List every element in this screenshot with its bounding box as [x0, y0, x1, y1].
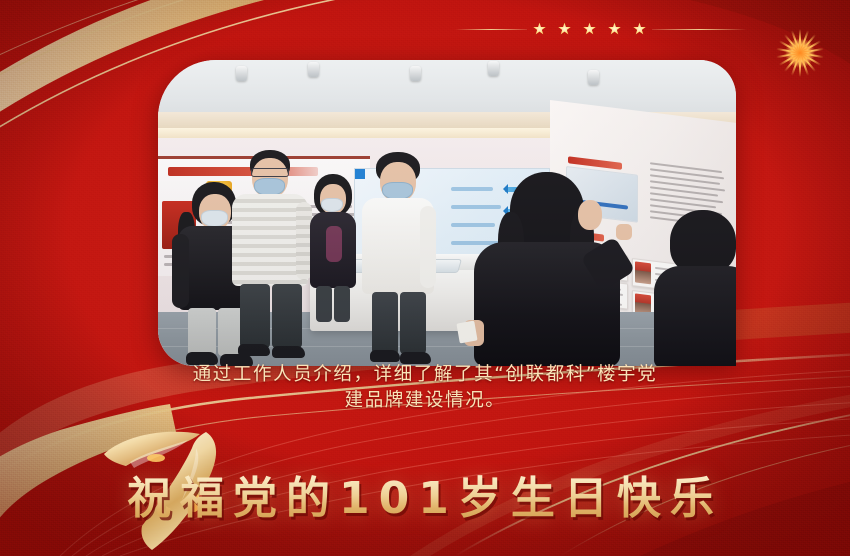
- star-strip: [455, 18, 800, 40]
- star-icon: [558, 23, 571, 36]
- star-strip-line-left: [455, 29, 527, 30]
- photo-spotlight: [236, 66, 247, 81]
- photo-spotlight: [488, 61, 499, 76]
- photo-spotlight: [410, 66, 421, 81]
- photo-pointing-hand: [616, 224, 632, 240]
- star-icon: [608, 23, 621, 36]
- star-icon: [533, 23, 546, 36]
- photo-person: [306, 174, 362, 324]
- photo-person: [650, 210, 736, 366]
- star-strip-line-right: [652, 29, 747, 30]
- caption-line-2: 建品牌建设情况。: [0, 388, 850, 414]
- caption-line-1: 通过工作人员介绍，详细了解了其“创联都科”楼宇党: [0, 362, 850, 388]
- photo-person: [230, 150, 312, 362]
- seven-top-stroke: [104, 432, 200, 466]
- firework-icon: [769, 22, 831, 84]
- photo-person-foreground: [458, 172, 628, 366]
- photo-person: [362, 152, 436, 366]
- poster-root: !: [0, 0, 850, 556]
- photo-caption: 通过工作人员介绍，详细了解了其“创联都科”楼宇党 建品牌建设情况。: [0, 362, 850, 415]
- exhibition-photo: !: [158, 60, 736, 366]
- star-icon: [633, 23, 646, 36]
- photo-spotlight: [588, 70, 599, 85]
- star-icon: [583, 23, 596, 36]
- page-title: 祝福党的101岁生日快乐: [0, 462, 850, 526]
- photo-frame: !: [158, 60, 736, 366]
- photo-spotlight: [308, 62, 319, 77]
- photo-glasses-icon: [251, 168, 289, 177]
